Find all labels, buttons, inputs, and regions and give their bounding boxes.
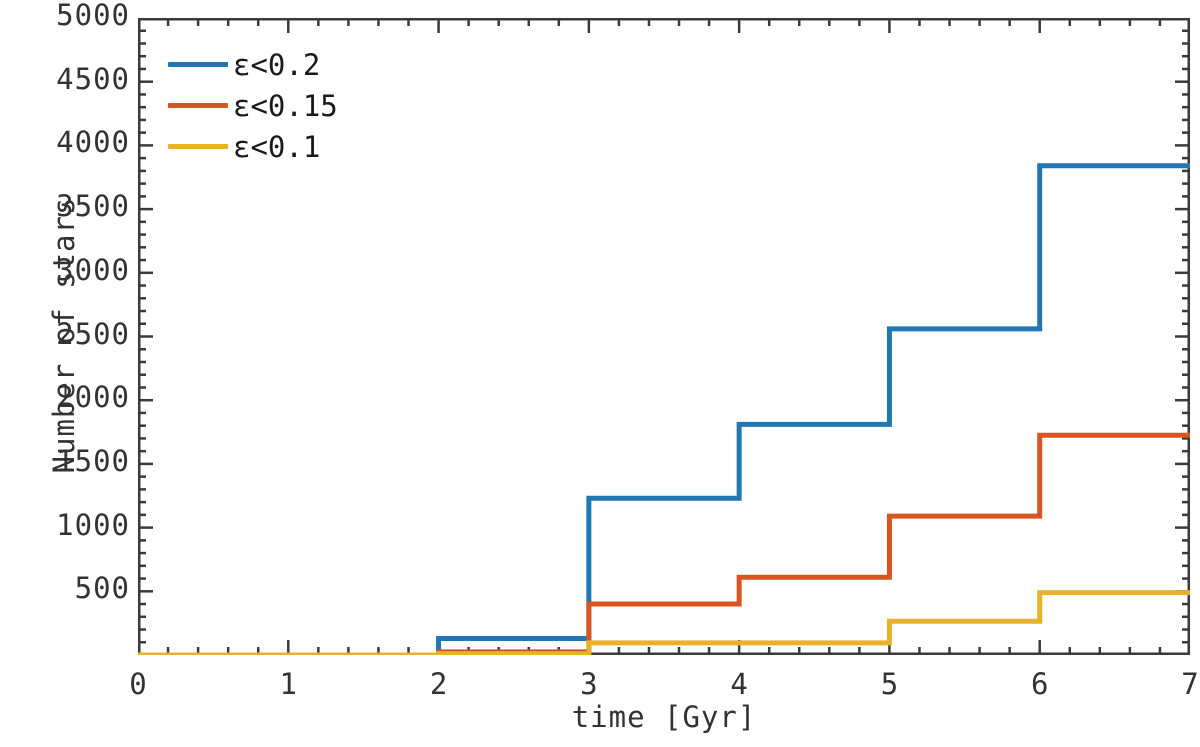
- legend-label: ε<0.2: [233, 48, 320, 82]
- y-axis-tick-label: 3000: [6, 253, 130, 287]
- legend-label: ε<0.15: [233, 89, 338, 123]
- plot-area: ε<0.2ε<0.15ε<0.1: [138, 18, 1190, 655]
- x-axis-tick-label: 3: [559, 667, 619, 701]
- legend-item-3: ε<0.1: [168, 126, 338, 167]
- y-axis-tick-label: 4500: [6, 62, 130, 96]
- legend-swatch-icon: [168, 144, 228, 149]
- legend-swatch-icon: [168, 62, 228, 67]
- x-axis-tick-label: 1: [258, 667, 318, 701]
- y-axis-tick-label: 2500: [6, 317, 130, 351]
- series-line-1: [138, 166, 1190, 655]
- legend-label: ε<0.1: [233, 130, 320, 164]
- y-axis-tick-label: 500: [6, 571, 130, 605]
- x-axis-tick-label: 4: [709, 667, 769, 701]
- legend-item-1: ε<0.2: [168, 44, 338, 85]
- x-axis-label: time [Gyr]: [138, 700, 1190, 734]
- y-axis-tick-label: 5000: [6, 0, 130, 32]
- y-axis-tick-label: 1000: [6, 508, 130, 542]
- legend-item-2: ε<0.15: [168, 85, 338, 126]
- y-axis-tick-label: 2000: [6, 380, 130, 414]
- x-axis-tick-label: 5: [859, 667, 919, 701]
- x-axis-tick-label: 7: [1160, 667, 1200, 701]
- legend: ε<0.2ε<0.15ε<0.1: [168, 44, 338, 167]
- x-axis-tick-label: 2: [409, 667, 469, 701]
- figure: Number of stars 500100015002000250030003…: [0, 0, 1200, 747]
- y-axis-tick-label: 1500: [6, 444, 130, 478]
- x-axis-tick-label: 6: [1010, 667, 1070, 701]
- x-axis-tick-label: 0: [108, 667, 168, 701]
- y-axis-tick-label: 4000: [6, 125, 130, 159]
- y-axis-tick-label: 3500: [6, 189, 130, 223]
- legend-swatch-icon: [168, 103, 228, 108]
- y-axis-tick-labels: 500100015002000250030003500400045005000: [0, 0, 130, 747]
